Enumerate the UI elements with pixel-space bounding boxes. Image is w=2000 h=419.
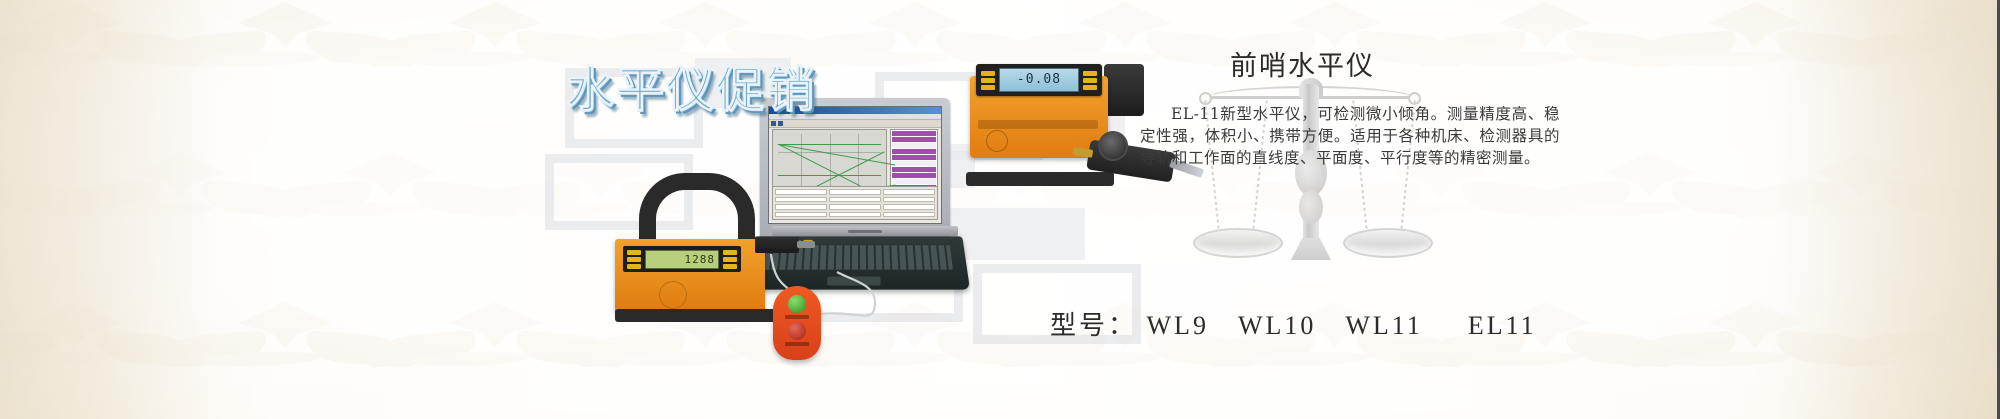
product-description: EL-11新型水平仪，可检测微小倾角。测量精度高、稳定性强，体积小、携带方便。适… — [1140, 103, 1560, 169]
fan-ornament-icon — [1995, 150, 2000, 260]
banner-main-title: 水平仪促销 — [566, 50, 816, 120]
level-rear-block — [1104, 64, 1144, 116]
fan-ornament-icon — [1575, 150, 1725, 260]
laptop-touchpad — [827, 277, 881, 286]
fan-ornament-icon — [0, 300, 150, 410]
handle-level-instrument: 1288 — [605, 173, 795, 323]
fan-ornament-icon — [1680, 0, 1830, 110]
software-parameter-table — [772, 186, 938, 220]
scale-column-bulb-lower — [1299, 190, 1323, 224]
level-grip-slot — [978, 120, 1098, 129]
orange-handheld-remote — [773, 286, 821, 360]
model-numbers-line: 型号： WL9 WL10 WL11 EL11 — [1050, 305, 1537, 342]
promo-banner: 1288 -0.08 — [0, 0, 2000, 419]
level-base-foot — [966, 172, 1114, 186]
model-label: 型号： — [1050, 311, 1137, 341]
instrument-lcd-display: 1288 — [645, 250, 719, 269]
instrument-buttons-left[interactable] — [627, 250, 641, 269]
instrument-logo — [659, 281, 687, 309]
fan-ornament-icon — [0, 150, 45, 260]
product-info-block: 前哨水平仪 EL-11新型水平仪，可检测微小倾角。测量精度高、稳定性强，体积小、… — [1140, 44, 1560, 169]
fan-ornament-icon — [420, 0, 570, 110]
scale-foot — [1291, 238, 1331, 260]
fan-ornament-icon — [210, 300, 360, 410]
instrument-side-arm — [755, 237, 799, 253]
level-control-panel: -0.08 — [976, 64, 1102, 96]
laptop-hinge — [772, 226, 958, 236]
scale-right-pan — [1343, 228, 1433, 258]
fan-ornament-icon — [105, 150, 255, 260]
fan-ornament-icon — [0, 0, 150, 110]
remote-red-button[interactable] — [788, 322, 806, 340]
fan-ornament-icon — [1680, 300, 1830, 410]
level-buttons-right[interactable] — [1083, 71, 1097, 90]
fan-ornament-icon — [210, 0, 360, 110]
product-heading: 前哨水平仪 — [1230, 44, 1560, 83]
level-buttons-left[interactable] — [981, 71, 995, 90]
fan-ornament-icon — [1785, 150, 1935, 260]
level-lcd-display: -0.08 — [999, 68, 1079, 92]
remote-green-button[interactable] — [788, 295, 806, 313]
fan-ornament-icon — [1890, 0, 2000, 110]
model-list: WL9 WL10 WL11 EL11 — [1137, 311, 1537, 340]
scale-left-pan — [1193, 228, 1283, 258]
instrument-body: 1288 — [615, 239, 765, 313]
level-logo — [986, 130, 1008, 152]
fan-ornament-icon — [420, 300, 570, 410]
level-body: -0.08 — [970, 76, 1108, 158]
fan-ornament-icon — [315, 150, 465, 260]
fan-ornament-icon — [1890, 300, 2000, 410]
instrument-buttons-right[interactable] — [723, 250, 737, 269]
instrument-control-panel: 1288 — [623, 246, 741, 272]
instrument-base-foot — [615, 309, 793, 322]
